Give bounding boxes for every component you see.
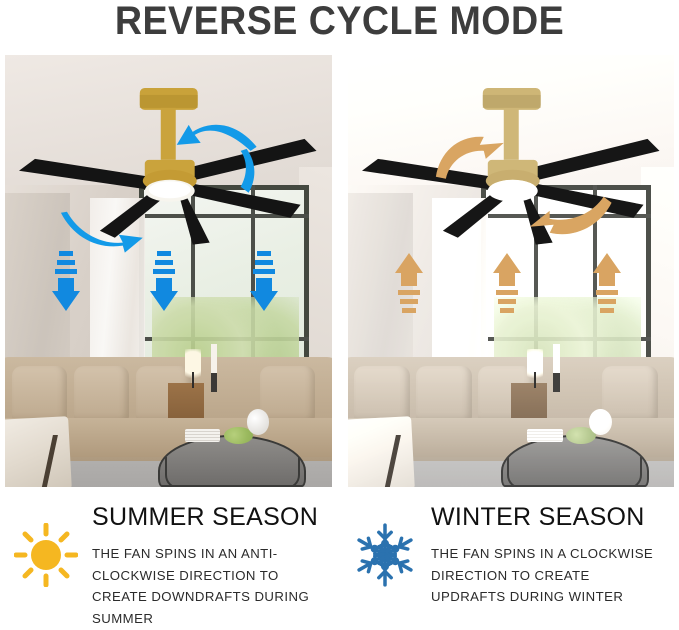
- winter-heading: WINTER SEASON: [431, 504, 663, 530]
- winter-body: THE FAN SPINS IN A CLOCKWISE DIRECTION T…: [431, 543, 663, 608]
- cushion: [12, 366, 68, 422]
- snowflake-icon: [339, 500, 431, 596]
- updraft-arrow-1: [394, 251, 424, 313]
- cushion: [74, 366, 130, 422]
- cushion: [602, 366, 658, 422]
- downdraft-arrow-3: [249, 251, 279, 313]
- coffee-table-legs: [165, 457, 300, 487]
- cushion: [260, 366, 316, 422]
- updraft-arrow-2: [492, 251, 522, 313]
- updraft-arrow-3: [592, 251, 622, 313]
- winter-text-block: WINTER SEASON THE FAN SPINS IN A CLOCKWI…: [431, 500, 663, 608]
- coffee-table-legs: [507, 457, 642, 487]
- summer-body: THE FAN SPINS IN AN ANTI-CLOCKWISE DIREC…: [92, 543, 324, 629]
- caption-row: SUMMER SEASON THE FAN SPINS IN AN ANTI-C…: [0, 494, 679, 630]
- ceiling-fan-winter: [348, 55, 675, 280]
- summer-photo-panel: [5, 55, 332, 487]
- ceiling-fan-summer: [5, 55, 332, 280]
- table-lamp: [527, 349, 543, 388]
- cushion: [416, 366, 472, 422]
- books-stack: [527, 429, 563, 443]
- comparison-panels: [5, 55, 674, 487]
- winter-caption: WINTER SEASON THE FAN SPINS IN A CLOCKWI…: [339, 494, 678, 630]
- candle: [211, 344, 218, 392]
- summer-heading: SUMMER SEASON: [92, 504, 324, 530]
- summer-caption: SUMMER SEASON THE FAN SPINS IN AN ANTI-C…: [0, 494, 339, 630]
- cushion: [354, 366, 410, 422]
- downdraft-arrow-1: [51, 251, 81, 313]
- books-stack: [185, 429, 221, 443]
- page-title: REVERSE CYCLE MODE: [20, 0, 658, 44]
- decor-sphere: [589, 409, 612, 435]
- table-lamp: [185, 349, 201, 388]
- downdraft-arrow-2: [149, 251, 179, 313]
- sun-icon: [0, 500, 92, 596]
- winter-photo-panel: [348, 55, 675, 487]
- candle: [553, 344, 560, 392]
- summer-text-block: SUMMER SEASON THE FAN SPINS IN AN ANTI-C…: [92, 500, 324, 629]
